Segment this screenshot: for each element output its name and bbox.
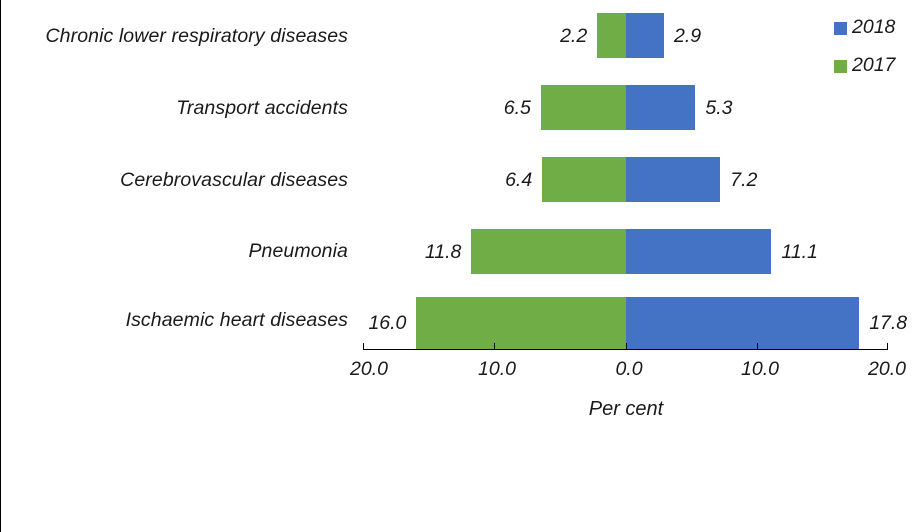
- bar-2017-cerebrovascular-diseases[interactable]: [542, 157, 626, 202]
- bar-row: [363, 85, 888, 130]
- legend-item-2018[interactable]: 2018: [834, 14, 895, 42]
- x-axis-tick: [887, 343, 888, 350]
- category-label-3: Pneumonia: [248, 240, 348, 263]
- x-axis-tick-label: 20.0: [868, 358, 906, 381]
- value-label-2017-3: 11.8: [401, 243, 461, 263]
- value-label-2017-2: 6.4: [482, 171, 532, 191]
- legend-swatch-icon-2018: [834, 22, 847, 35]
- category-label-0: Chronic lower respiratory diseases: [45, 25, 348, 48]
- value-label-2018-3: 11.1: [781, 243, 851, 263]
- x-axis-tick: [626, 343, 627, 350]
- category-label-4: Ischaemic heart diseases: [126, 309, 348, 332]
- bar-2018-cerebrovascular-diseases[interactable]: [626, 157, 720, 202]
- x-axis-tick-label: 20.0: [350, 358, 388, 381]
- value-label-2018-2: 7.2: [730, 171, 790, 191]
- plot-area: 2.2 2.9 6.5 5.3 6.4 7.2 11.8 11.1 16.0 1…: [363, 0, 888, 349]
- diverging-bar-chart: Chronic lower respiratory diseases Trans…: [0, 0, 920, 532]
- bar-2017-pneumonia[interactable]: [471, 229, 626, 274]
- bar-2018-pneumonia[interactable]: [626, 229, 771, 274]
- x-axis-tick: [363, 343, 364, 350]
- x-axis-tick: [757, 343, 758, 350]
- legend-label-2017: 2017: [852, 56, 895, 76]
- bar-2017-chronic-lower-respiratory-diseases[interactable]: [597, 13, 626, 58]
- x-axis-title-wrap: Per cent: [1, 398, 920, 421]
- bar-2018-chronic-lower-respiratory-diseases[interactable]: [626, 13, 664, 58]
- category-label-1: Transport accidents: [176, 97, 348, 120]
- value-label-2017-4: 16.0: [346, 314, 406, 334]
- bar-row: [363, 297, 888, 349]
- legend: 2018 2017: [834, 14, 895, 80]
- bar-2017-transport-accidents[interactable]: [541, 85, 626, 130]
- bar-row: [363, 157, 888, 202]
- bar-row: [363, 13, 888, 58]
- x-axis-tick-label: 10.0: [741, 358, 779, 381]
- x-axis-tick: [494, 343, 495, 350]
- bar-2018-ischaemic-heart-diseases[interactable]: [626, 297, 859, 349]
- category-label-2: Cerebrovascular diseases: [120, 169, 348, 192]
- x-axis-tick-label: 0.0: [615, 358, 642, 381]
- value-label-2017-0: 2.2: [537, 27, 587, 47]
- bar-2017-ischaemic-heart-diseases[interactable]: [416, 297, 626, 349]
- legend-label-2018: 2018: [852, 18, 895, 38]
- legend-item-2017[interactable]: 2017: [834, 52, 895, 80]
- value-label-2018-4: 17.8: [869, 314, 920, 334]
- value-label-2017-1: 6.5: [481, 99, 531, 119]
- bar-2018-transport-accidents[interactable]: [626, 85, 695, 130]
- value-label-2018-1: 5.3: [705, 99, 765, 119]
- legend-swatch-icon-2017: [834, 60, 847, 73]
- x-axis-title: Per cent: [589, 398, 663, 420]
- value-label-2018-0: 2.9: [674, 27, 734, 47]
- x-axis-tick-label: 10.0: [478, 358, 516, 381]
